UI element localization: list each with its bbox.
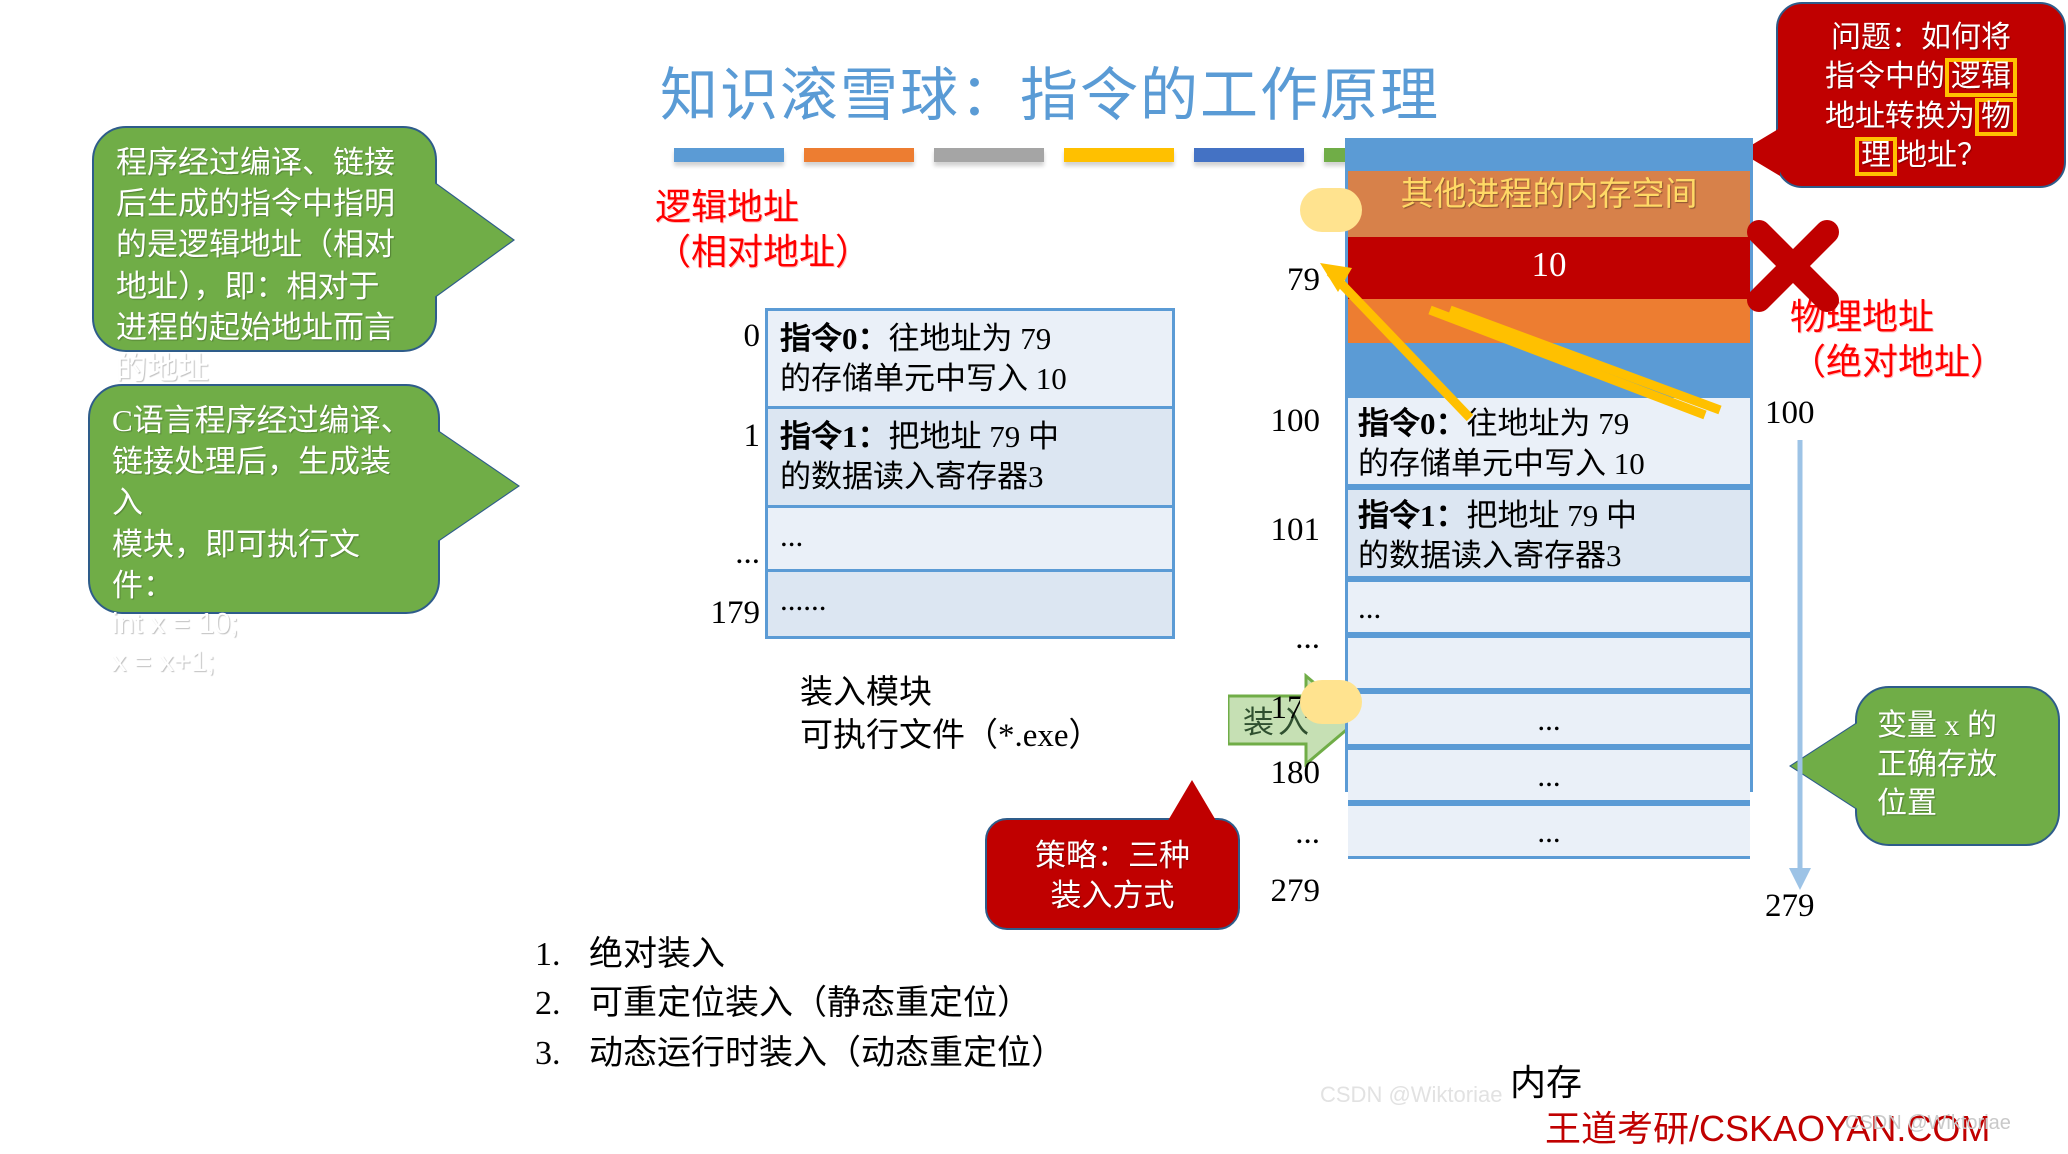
callout-compile-explanation: 程序经过编译、链接 后生成的指令中指明 的是逻辑地址（相对 地址），即：相对于 … bbox=[92, 126, 437, 352]
mem-addr-101: 101 bbox=[1210, 512, 1320, 549]
callout-question: 问题：如何将 指令中的逻辑 地址转换为物 理地址？ bbox=[1776, 2, 2066, 188]
strategy-line-2: 装入方式 bbox=[987, 876, 1238, 916]
callout-tail bbox=[436, 430, 518, 542]
varpos-line-1: 变量 x 的 bbox=[1877, 706, 2044, 745]
callout-tail bbox=[433, 182, 513, 298]
row-bold: 指令0： bbox=[780, 321, 889, 356]
decor-bar-3 bbox=[934, 148, 1044, 162]
highlight-logical: 逻辑 bbox=[1945, 58, 2017, 97]
module-caption-line-2: 可执行文件（*.exe） bbox=[800, 715, 1102, 758]
module-caption-line-1: 装入模块 bbox=[800, 672, 1102, 715]
memory-other-band-2 bbox=[1348, 219, 1750, 237]
list-text: 绝对装入 bbox=[589, 936, 725, 973]
list-item: 1.绝对装入 bbox=[535, 930, 1065, 979]
row-line-2: 的数据读入寄存器3 bbox=[1358, 536, 1740, 576]
watermark-sub: CSDN @Wiktoriae bbox=[1845, 1112, 2011, 1135]
row-rest: 往地址为 79 bbox=[1467, 406, 1630, 441]
row-line-1: 指令1：把地址 79 中 bbox=[780, 417, 1160, 457]
callout-variable-position: 变量 x 的 正确存放 位置 bbox=[1855, 686, 2060, 846]
row-line-1: 指令0：往地址为 79 bbox=[780, 319, 1160, 359]
question-line-4-text: 地址？ bbox=[1897, 139, 1987, 172]
row-line-2: 的存储单元中写入 10 bbox=[1358, 444, 1740, 484]
decor-bar-5 bbox=[1194, 148, 1304, 162]
row-rest: 把地址 79 中 bbox=[889, 419, 1060, 454]
memory-row: ... bbox=[1348, 747, 1750, 803]
memory-row: 指令1：把地址 79 中 的数据读入寄存器3 bbox=[1348, 487, 1750, 579]
label-logical-address: 逻辑地址 （相对地址） bbox=[655, 185, 871, 275]
load-methods-list: 1.绝对装入 2.可重定位装入（静态重定位） 3.动态运行时装入（动态重定位） bbox=[535, 930, 1065, 1078]
mem-right-addr-279: 279 bbox=[1765, 888, 1875, 925]
callout-tail bbox=[1791, 722, 1859, 810]
row-line-2: 的存储单元中写入 10 bbox=[780, 359, 1160, 399]
row-rest: 把地址 79 中 bbox=[1467, 498, 1638, 533]
memory-value-text: 10 bbox=[1348, 245, 1750, 295]
slide-canvas: 知识滚雪球：指令的工作原理 程序经过编译、链接 后生成的指令中指明 的是逻辑地址… bbox=[0, 0, 2068, 1154]
callout-line: 模块，即可执行文件： bbox=[112, 524, 414, 606]
highlight-physical-2: 理 bbox=[1855, 137, 1897, 176]
table-row: ... bbox=[768, 508, 1172, 572]
row-rest: 往地址为 79 bbox=[889, 321, 1052, 356]
question-line-2: 指令中的逻辑 bbox=[1786, 57, 2056, 97]
list-item: 2.可重定位装入（静态重定位） bbox=[535, 979, 1065, 1028]
logical-addr-1: 1 bbox=[650, 418, 760, 455]
callout-line: 地址），即：相对于 bbox=[116, 266, 411, 307]
question-line-3-text: 地址转换为 bbox=[1825, 100, 1975, 133]
memory-column: 其他进程的内存空间 10 指令0：往地址为 79 的存储单元中写入 10 指令1… bbox=[1345, 138, 1753, 792]
mem-addr-180: 180 bbox=[1210, 755, 1320, 792]
table-row: ...... bbox=[768, 572, 1172, 636]
callout-line: 的是逻辑地址（相对 bbox=[116, 224, 411, 265]
table-row: 指令1：把地址 79 中 的数据读入寄存器3 bbox=[768, 409, 1172, 507]
strategy-line-1: 策略：三种 bbox=[987, 836, 1238, 876]
physical-address-line-2: （绝对地址） bbox=[1790, 340, 2006, 385]
row-bold: 指令0： bbox=[1358, 406, 1467, 441]
row-bold: 指令1： bbox=[1358, 498, 1467, 533]
row-rest: ... bbox=[1358, 756, 1740, 796]
question-line-1: 问题：如何将 bbox=[1786, 18, 2056, 57]
mem-addr-dots-2: ... bbox=[1210, 815, 1320, 852]
decor-bar-4 bbox=[1064, 148, 1174, 162]
row-rest: ... bbox=[1358, 700, 1740, 740]
mem-addr-79: 79 bbox=[1210, 262, 1320, 299]
memory-row: 指令0：往地址为 79 的存储单元中写入 10 bbox=[1348, 395, 1750, 487]
callout-strategy: 策略：三种 装入方式 bbox=[985, 818, 1240, 930]
list-text: 动态运行时装入（动态重定位） bbox=[589, 1035, 1065, 1072]
logical-address-line-1: 逻辑地址 bbox=[655, 185, 871, 230]
varpos-line-2: 正确存放 bbox=[1877, 745, 2044, 784]
decorative-bar-strip bbox=[674, 148, 1434, 162]
memory-row: ... bbox=[1348, 579, 1750, 635]
page-title: 知识滚雪球：指令的工作原理 bbox=[620, 48, 1480, 132]
logical-instruction-table: 指令0：往地址为 79 的存储单元中写入 10 指令1：把地址 79 中 的数据… bbox=[765, 308, 1175, 639]
table-row: 指令0：往地址为 79 的存储单元中写入 10 bbox=[768, 311, 1172, 409]
decor-bar-2 bbox=[804, 148, 914, 162]
mem-addr-dots-1: ... bbox=[1210, 620, 1320, 657]
memory-row bbox=[1348, 635, 1750, 691]
mem-right-addr-100: 100 bbox=[1765, 395, 1875, 432]
callout-c-program: C语言程序经过编译、 链接处理后，生成装入 模块，即可执行文件： int x =… bbox=[88, 384, 440, 614]
logical-address-line-2: （相对地址） bbox=[655, 230, 871, 275]
varpos-line-3: 位置 bbox=[1877, 784, 2044, 823]
callout-line: 链接处理后，生成装入 bbox=[112, 441, 414, 523]
callout-line: 后生成的指令中指明 bbox=[116, 183, 411, 224]
memory-other-band-3 bbox=[1348, 299, 1750, 343]
callout-line: C语言程序经过编译、 bbox=[112, 400, 414, 441]
range-arrow-vertical bbox=[1789, 440, 1811, 890]
list-number: 3. bbox=[535, 1029, 589, 1078]
question-line-4: 理地址？ bbox=[1786, 136, 2056, 176]
list-number: 1. bbox=[535, 930, 589, 979]
memory-other-process-label: 其他进程的内存空间 bbox=[1348, 171, 1750, 219]
logical-addr-179: 179 bbox=[650, 595, 760, 632]
decor-bar-1 bbox=[674, 148, 784, 162]
caption-load-module: 装入模块 可执行文件（*.exe） bbox=[800, 672, 1102, 758]
list-number: 2. bbox=[535, 979, 589, 1028]
code-line-1: int x = 10; bbox=[112, 606, 414, 644]
memory-row: ... bbox=[1348, 803, 1750, 859]
row-rest: ... bbox=[1358, 588, 1740, 628]
mem-addr-279: 279 bbox=[1210, 873, 1320, 910]
callout-line: 程序经过编译、链接 bbox=[116, 142, 411, 183]
row-rest: ... bbox=[780, 516, 1160, 556]
row-bold: 指令1： bbox=[780, 419, 889, 454]
question-line-2-text: 指令中的 bbox=[1825, 60, 1945, 93]
memory-row: ... bbox=[1348, 691, 1750, 747]
row-line-2: 的数据读入寄存器3 bbox=[780, 457, 1160, 497]
logical-addr-dots: ... bbox=[650, 535, 760, 572]
callout-line: 进程的起始地址而言 bbox=[116, 307, 411, 348]
row-rest: ... bbox=[1358, 812, 1740, 852]
row-line-1: 指令0：往地址为 79 bbox=[1358, 404, 1740, 444]
mem-addr-100: 100 bbox=[1210, 403, 1320, 440]
watermark-ghost: CSDN @Wiktoriae bbox=[1320, 1082, 1502, 1108]
list-item: 3.动态运行时装入（动态重定位） bbox=[535, 1029, 1065, 1078]
marker-pill-top bbox=[1300, 188, 1362, 232]
question-line-3: 地址转换为物 bbox=[1786, 97, 2056, 137]
code-line-2: x = x+1; bbox=[112, 644, 414, 682]
list-text: 可重定位装入（静态重定位） bbox=[589, 985, 1031, 1022]
row-line-1: 指令1：把地址 79 中 bbox=[1358, 496, 1740, 536]
logical-addr-0: 0 bbox=[650, 318, 760, 355]
marker-pill-bottom bbox=[1300, 680, 1362, 724]
highlight-physical-1: 物 bbox=[1975, 98, 2017, 137]
row-rest: ...... bbox=[780, 580, 1160, 620]
red-x-icon bbox=[1745, 218, 1841, 314]
